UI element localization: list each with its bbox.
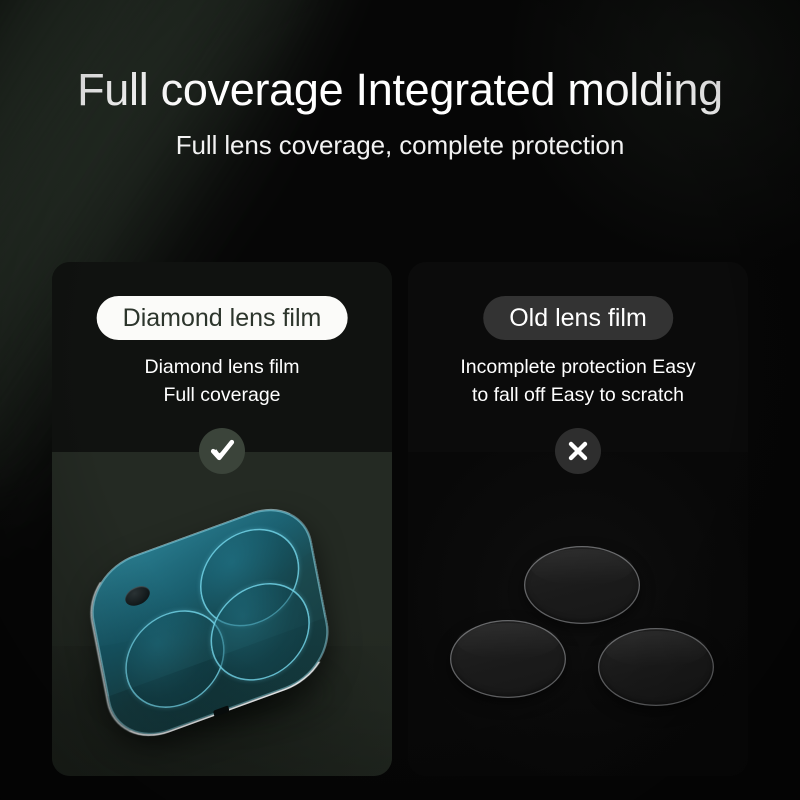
product-integrated-lens-film — [56, 500, 386, 750]
comparison-panel-good: Diamond lens film Diamond lens film Full… — [52, 262, 392, 776]
page-subtitle: Full lens coverage, complete protection — [0, 130, 800, 161]
check-icon — [199, 428, 245, 474]
caption-line-1: Diamond lens film — [60, 354, 384, 382]
product-separate-lens-rings — [408, 500, 748, 750]
cross-icon — [555, 428, 601, 474]
comparison-panel-bad: Old lens film Incomplete protection Easy… — [408, 262, 748, 776]
panel-caption-good: Diamond lens film Full coverage — [60, 354, 384, 409]
badge-old-lens-film: Old lens film — [483, 296, 673, 340]
caption-line-2: Full coverage — [60, 382, 384, 410]
page-title: Full coverage Integrated molding — [0, 66, 800, 114]
caption-line-2: to fall off Easy to scratch — [416, 382, 740, 410]
panel-caption-bad: Incomplete protection Easy to fall off E… — [416, 354, 740, 409]
lens-disc-top — [524, 546, 640, 624]
lens-disc-bottom-left — [450, 620, 566, 698]
header-block: Full coverage Integrated molding Full le… — [0, 66, 800, 161]
lens-disc-bottom-right — [598, 628, 714, 706]
marketing-image: Full coverage Integrated molding Full le… — [0, 0, 800, 800]
badge-diamond-lens-film: Diamond lens film — [97, 296, 348, 340]
caption-line-1: Incomplete protection Easy — [416, 354, 740, 382]
